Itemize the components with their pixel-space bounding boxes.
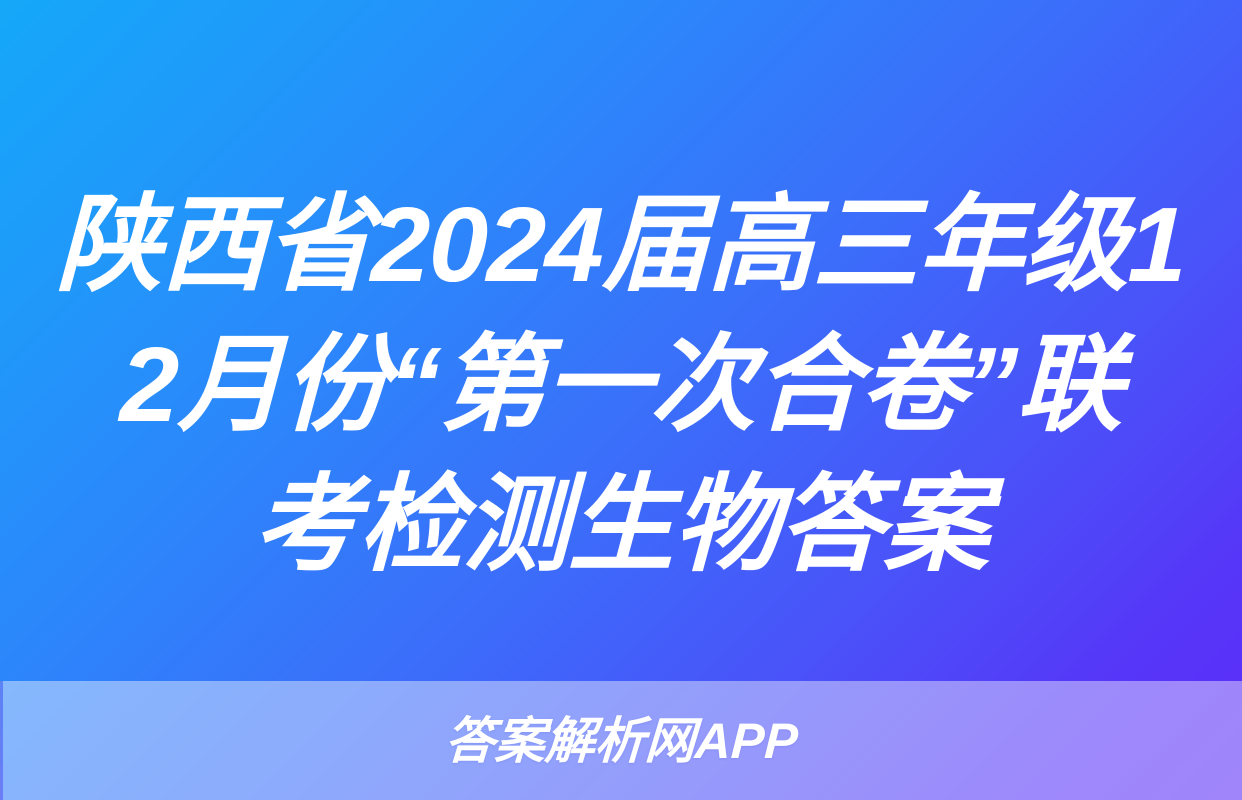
page-title-line-2: 2月份“第一次合卷”联 xyxy=(0,315,1242,455)
page-title-line-3: 考检测生物答案 xyxy=(0,455,1242,595)
watermark-band: 答案解析网APP xyxy=(0,681,1242,800)
page-title-line-1: 陕西省2024届高三年级1 xyxy=(0,175,1242,315)
poster-canvas: 陕西省2024届高三年级1 2月份“第一次合卷”联 考检测生物答案 答案解析网A… xyxy=(0,0,1242,800)
page-title: 陕西省2024届高三年级1 2月份“第一次合卷”联 考检测生物答案 xyxy=(0,175,1242,595)
watermark-label: 答案解析网APP xyxy=(443,716,798,766)
